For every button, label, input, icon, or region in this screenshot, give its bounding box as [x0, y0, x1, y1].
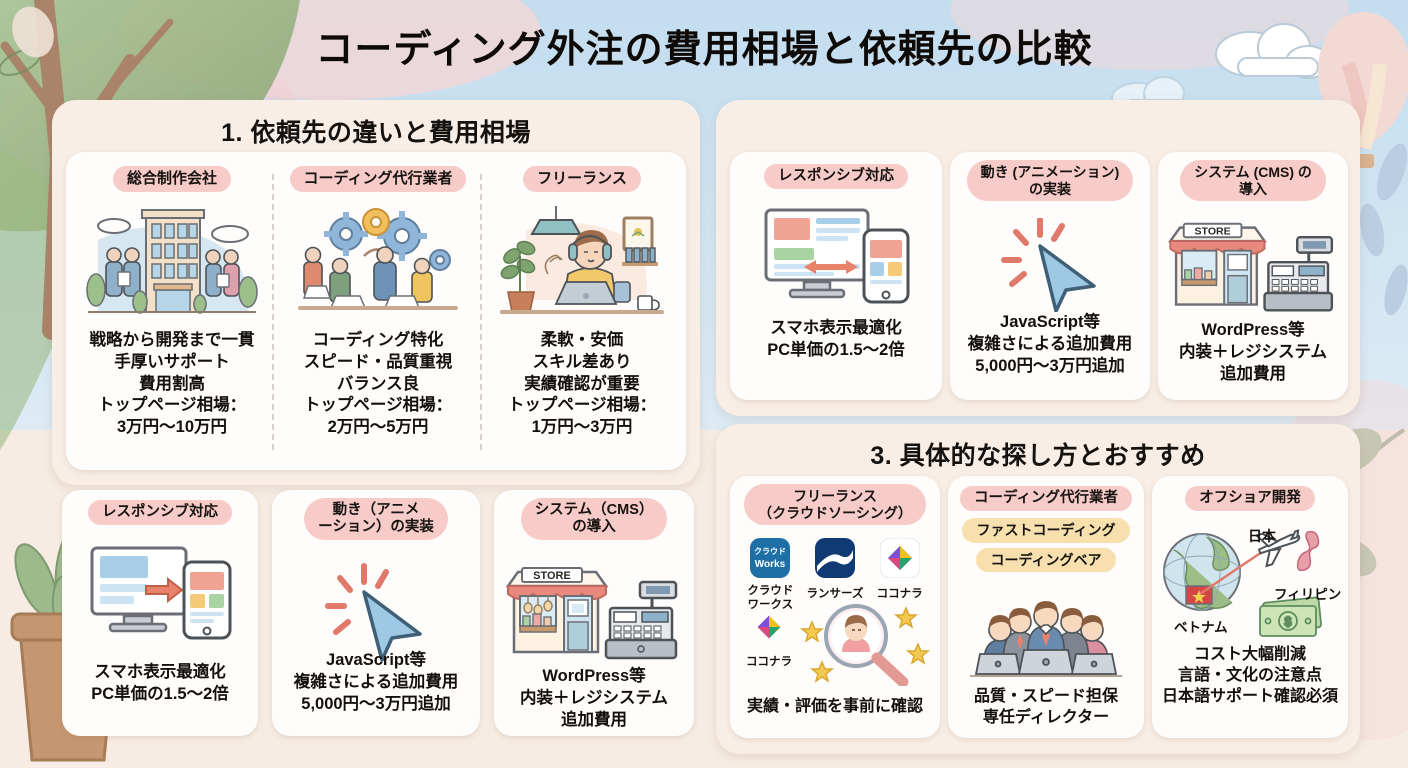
line: トップページ相場： [276, 395, 480, 417]
extra-card-cms-badge[interactable]: システム（CMS） の導入 [521, 498, 668, 540]
svg-text:STORE: STORE [533, 570, 571, 582]
map-label-vietnam: ベトナム [1174, 616, 1228, 636]
section-2-card-1-badge[interactable]: レスポンシブ対応 [764, 164, 908, 189]
section-2-card-2-badge[interactable]: 動き (アニメーション) の実装 [967, 160, 1134, 201]
coconala-logo [880, 538, 920, 578]
svg-text:Works: Works [755, 559, 786, 570]
lancers-label: ランサーズ [805, 585, 865, 601]
team-gears-illustration [290, 200, 466, 326]
section-3-heading: 3. 具体的な探し方とおすすめ [716, 436, 1360, 472]
line: コスト大幅削減 [1152, 644, 1348, 665]
line: バランス良 [276, 374, 480, 396]
section-3-card-3-lines: コスト大幅削減 言語・文化の注意点 日本語サポート確認必須 [1152, 644, 1348, 707]
column-divider-2 [480, 174, 482, 450]
section-1-column-3[interactable]: フリーランス [484, 162, 680, 462]
page-title-text: コーディング外注の費用相場と依頼先の比較 [315, 29, 1092, 71]
svg-text:$: $ [1284, 614, 1292, 629]
section-2-card-responsive[interactable]: レスポンシブ対応 [730, 152, 942, 400]
office-building-team-illustration [84, 200, 260, 326]
extra-card-animation[interactable]: 動き（アニメ ーション）の実装 JavaScript等 複雑さによる追加費用 5… [272, 490, 480, 736]
column-3-lines: 柔軟・安価 スキル差あり 実績確認が重要 トップページ相場： 1万円〜3万円 [484, 330, 680, 439]
map-label-philippines: フィリピン [1274, 583, 1341, 603]
crowdworks-logo-item[interactable]: クラウド Works クラウド ワークス [740, 538, 800, 613]
line: スマホ表示最適化 [62, 662, 258, 684]
business-team-laptops-icon [966, 598, 1126, 684]
storefront-register-icon: STORE [1166, 218, 1340, 318]
line: 追加費用 [1158, 364, 1348, 386]
line: スマホ表示最適化 [730, 318, 942, 340]
extra-card-cms-lines: WordPress等 内装＋レジシステム 追加費用 [494, 666, 694, 731]
column-2-lines: コーディング特化 スピード・品質重視 バランス良 トップページ相場： 2万円〜5… [276, 330, 480, 439]
extra-card-animation-badge[interactable]: 動き（アニメ ーション）の実装 [304, 498, 448, 540]
section-2-panel: レスポンシブ対応 [716, 100, 1360, 416]
storefront-register-icon: STORE [506, 562, 682, 666]
section-3-card-1-badge[interactable]: フリーランス （クラウドソーシング） [744, 484, 926, 525]
line: 3万円〜10万円 [72, 417, 272, 439]
page-title: コーディング外注の費用相場と依頼先の比較 [0, 18, 1408, 73]
line: コーディング特化 [276, 330, 480, 352]
column-2-badge[interactable]: コーディング代行業者 [290, 166, 467, 192]
line: 言語・文化の注意点 [1152, 665, 1348, 686]
monitor-phone-arrow-icon [88, 542, 234, 642]
line: 内装＋レジシステム [1158, 342, 1348, 364]
line: 2万円〜5万円 [276, 417, 480, 439]
line: トップページ相場： [484, 395, 680, 417]
line: 追加費用 [494, 710, 694, 732]
section-1-column-1[interactable]: 総合制作会社 [72, 162, 272, 462]
section-3-card-2-lines: 品質・スピード担保 専任ディレクター [948, 686, 1144, 728]
line: 複雑さによる追加費用 [272, 672, 480, 694]
line: 専任ディレクター [948, 707, 1144, 728]
section-3-card-offshore[interactable]: オフショア開発 [1152, 476, 1348, 738]
svg-text:STORE: STORE [1195, 225, 1231, 237]
agency-tag-coding-bear[interactable]: コーディングベア [976, 548, 1115, 573]
cursor-click-sparkle-icon [998, 218, 1102, 312]
line: WordPress等 [494, 666, 694, 688]
line: WordPress等 [1158, 320, 1348, 342]
freelancer-desk-illustration [496, 200, 668, 326]
section-2-card-1-lines: スマホ表示最適化 PC単価の1.5〜2倍 [730, 318, 942, 362]
section-1-columns-card: 総合制作会社 [66, 152, 686, 470]
line: 実績・評価を事前に確認 [730, 696, 940, 717]
monitor-phone-arrow-icon [764, 208, 912, 306]
section-2-card-cms[interactable]: システム (CMS) の 導入 STORE [1158, 152, 1348, 400]
column-3-badge[interactable]: フリーランス [523, 166, 641, 192]
line: 費用割高 [72, 374, 272, 396]
section-1-heading: 1. 依頼先の違いと費用相場 [52, 113, 700, 149]
line: 戦略から開発まで一貫 [72, 330, 272, 352]
section-2-card-3-lines: WordPress等 内装＋レジシステム 追加費用 [1158, 320, 1348, 385]
column-1-badge[interactable]: 総合制作会社 [113, 166, 231, 192]
lancers-logo [815, 538, 855, 578]
extra-card-cms[interactable]: システム（CMS） の導入 STORE [494, 490, 694, 736]
line: 柔軟・安価 [484, 330, 680, 352]
line: 内装＋レジシステム [494, 688, 694, 710]
extra-card-animation-lines: JavaScript等 複雑さによる追加費用 5,000円〜3万円追加 [272, 650, 480, 715]
line: PC単価の1.5〜2倍 [730, 340, 942, 362]
section-2-card-2-lines: JavaScript等 複雑さによる追加費用 5,000円〜3万円追加 [950, 312, 1150, 377]
line: トップページ相場： [72, 395, 272, 417]
section-3-card-2-badge[interactable]: コーディング代行業者 [960, 486, 1132, 511]
line: 1万円〜3万円 [484, 417, 680, 439]
line: 5,000円〜3万円追加 [950, 356, 1150, 378]
crowdworks-logo: クラウド Works [750, 538, 790, 578]
agency-tag-fast-coding[interactable]: ファストコーディング [962, 518, 1129, 543]
line: スピード・品質重視 [276, 352, 480, 374]
cursor-click-sparkle-icon [324, 562, 428, 662]
line: 手厚いサポート [72, 352, 272, 374]
map-label-japan: 日本 [1248, 526, 1276, 546]
magnifier-profile-stars-icon [798, 600, 934, 686]
line: スキル差あり [484, 352, 680, 374]
line: 5,000円〜3万円追加 [272, 694, 480, 716]
section-3-card-3-badge[interactable]: オフショア開発 [1185, 486, 1315, 511]
column-1-lines: 戦略から開発まで一貫 手厚いサポート 費用割高 トップページ相場： 3万円〜10… [72, 330, 272, 439]
column-divider-1 [272, 174, 274, 450]
line: PC単価の1.5〜2倍 [62, 684, 258, 706]
section-3-card-freelance[interactable]: フリーランス （クラウドソーシング） クラウド Works クラウド ワークス [730, 476, 940, 738]
line: JavaScript等 [272, 650, 480, 672]
line: JavaScript等 [950, 312, 1150, 334]
section-3-card-agency[interactable]: コーディング代行業者 ファストコーディング コーディングベア [948, 476, 1144, 738]
coconala-label: ココナラ [870, 585, 930, 601]
section-3-panel: 3. 具体的な探し方とおすすめ フリーランス （クラウドソーシング） クラウド … [716, 424, 1360, 754]
line: 日本語サポート確認必須 [1152, 686, 1348, 707]
section-1-panel: 1. 依頼先の違いと費用相場 総合制作会社 [52, 100, 700, 485]
coconala-label-2: ココナラ [740, 653, 798, 669]
section-3-card-1-lines: 実績・評価を事前に確認 [730, 696, 940, 717]
svg-text:クラウド: クラウド [754, 546, 786, 556]
extra-card-responsive-badge[interactable]: レスポンシブ対応 [88, 500, 232, 525]
coconala-logo-2 [750, 608, 788, 646]
section-2-card-animation[interactable]: 動き (アニメーション) の実装 JavaScript等 複雑さによる追加費用 … [950, 152, 1150, 400]
line: 複雑さによる追加費用 [950, 334, 1150, 356]
extra-card-responsive-lines: スマホ表示最適化 PC単価の1.5〜2倍 [62, 662, 258, 706]
section-2-card-3-badge[interactable]: システム (CMS) の 導入 [1180, 160, 1326, 201]
section-1-column-2[interactable]: コーディング代行業者 [276, 162, 480, 462]
line: 実績確認が重要 [484, 374, 680, 396]
extra-card-responsive[interactable]: レスポンシブ対応 スマホ表示最適化 PC単価の1.5〜2倍 [62, 490, 258, 736]
line: 品質・スピード担保 [948, 686, 1144, 707]
